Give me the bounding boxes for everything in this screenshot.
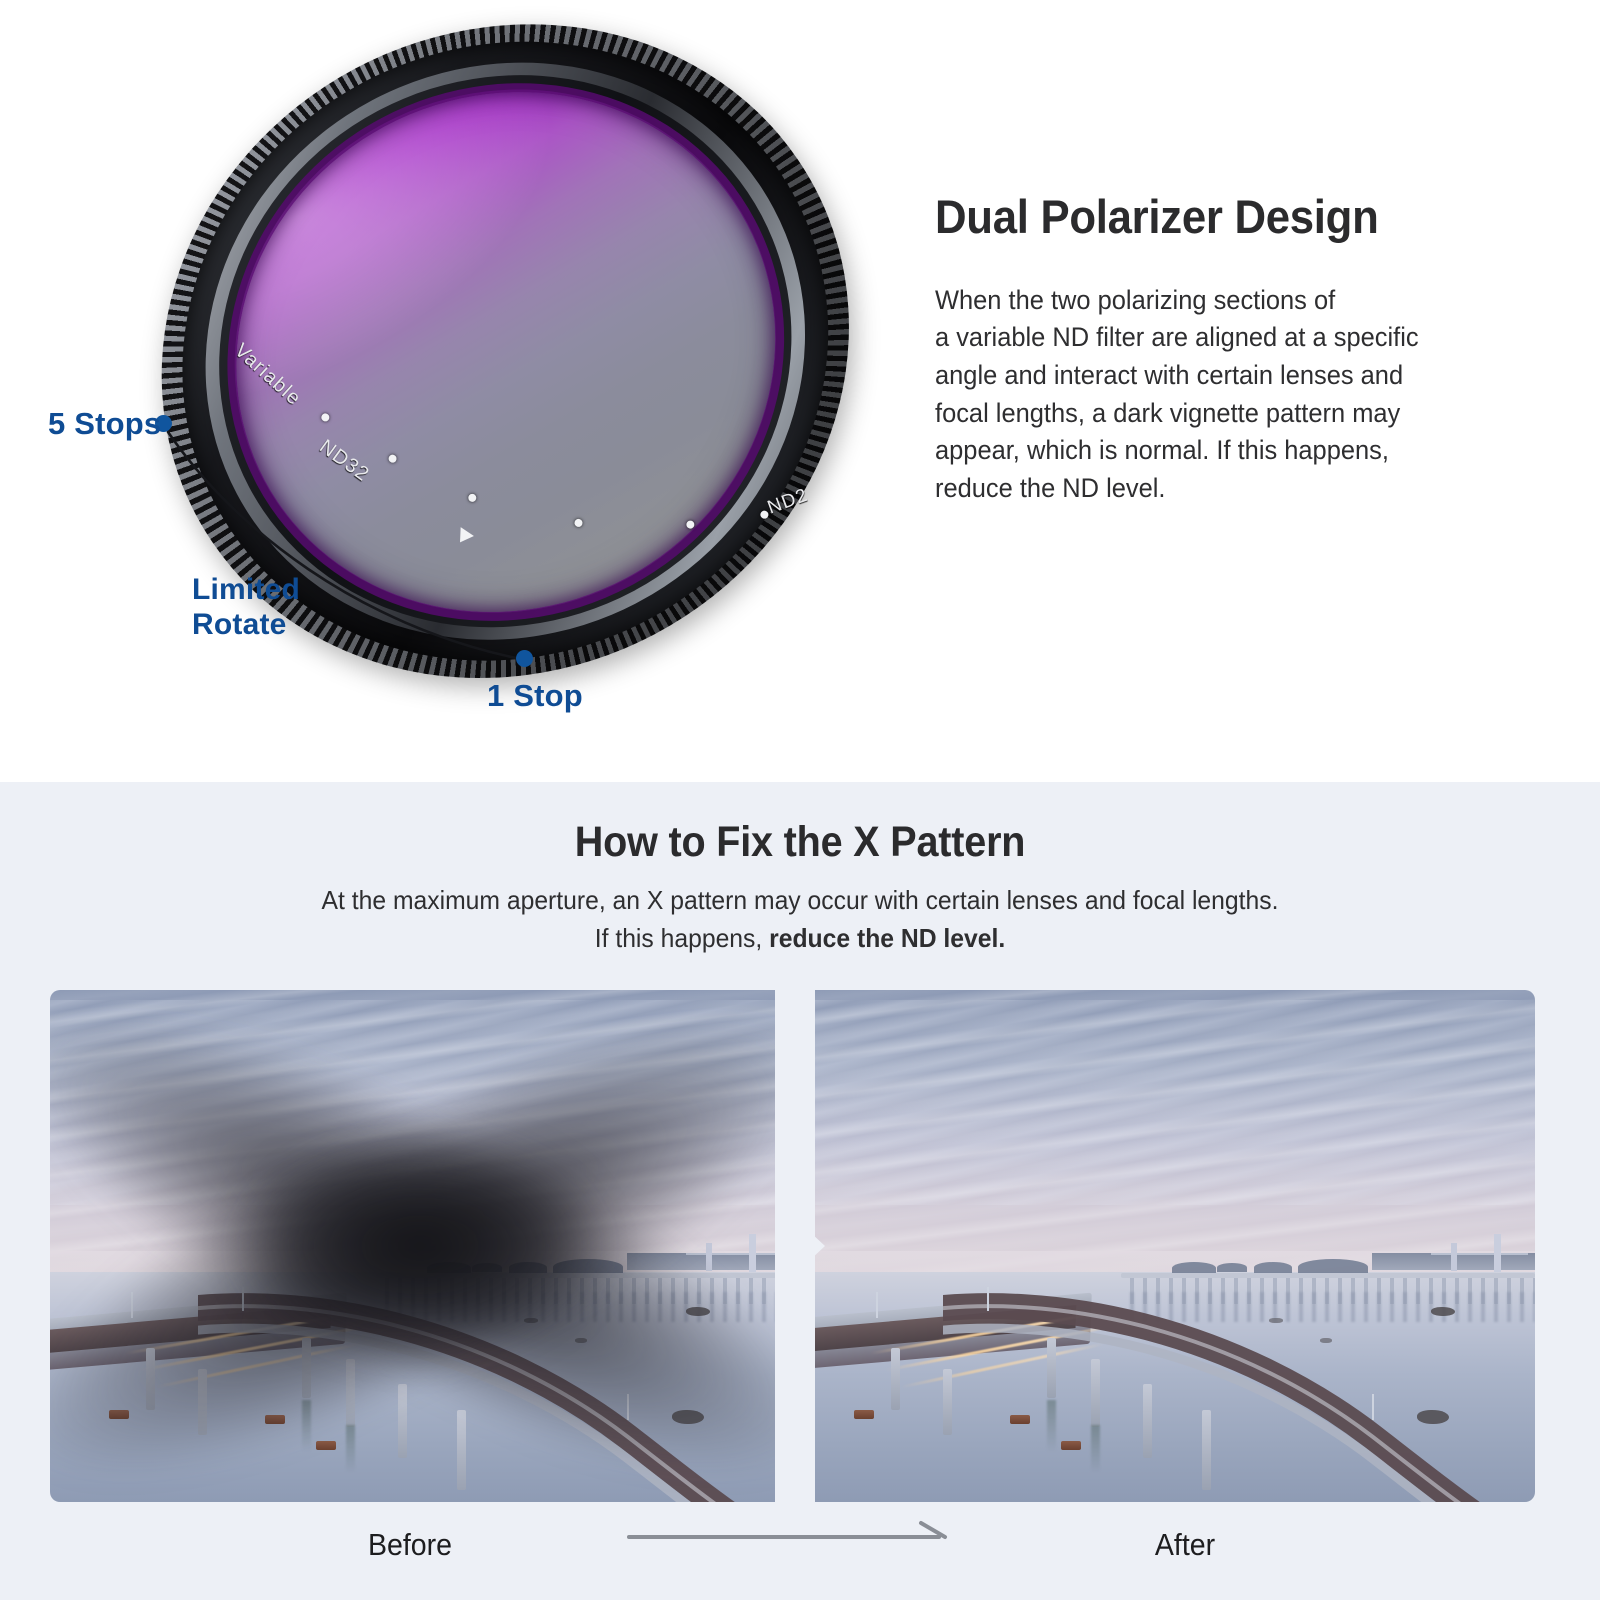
bridge-scene: [795, 990, 1535, 1502]
pier: [943, 1369, 952, 1435]
bridge-tower: [1494, 1234, 1501, 1272]
chevron-right-icon: [795, 1218, 825, 1274]
pier: [457, 1410, 466, 1490]
street-lamp: [1372, 1394, 1374, 1420]
pier: [1202, 1410, 1211, 1490]
pier-cap: [265, 1415, 285, 1424]
callout-label-1-stop: 1 Stop: [487, 678, 583, 715]
caption-after: After: [1084, 1527, 1286, 1563]
street-lamp: [627, 1394, 629, 1420]
pier: [146, 1348, 155, 1410]
caption-before: Before: [309, 1527, 511, 1563]
pier-reflection: [1047, 1400, 1056, 1452]
boat: [524, 1318, 538, 1323]
subtitle-line-2-bold: reduce the ND level.: [769, 923, 1005, 953]
rock: [1417, 1410, 1449, 1424]
body-paragraph: When the two polarizing sections of a va…: [935, 282, 1511, 508]
section-title: How to Fix the X Pattern: [64, 818, 1536, 867]
pier: [398, 1384, 407, 1458]
boat: [575, 1338, 587, 1343]
pier-cap: [1061, 1441, 1081, 1450]
copy-column: Dual Polarizer Design When the two polar…: [935, 192, 1535, 508]
infographic-page: Variable ND32 ND2 5 Stops Limited Rotate…: [0, 0, 1600, 1600]
boat: [1269, 1318, 1283, 1323]
island: [1217, 1263, 1247, 1272]
callout-label-5-stops: 5 Stops: [48, 406, 161, 443]
dual-polarizer-section: Variable ND32 ND2 5 Stops Limited Rotate…: [0, 0, 1600, 782]
cloud-streaks-secondary: [795, 1000, 1535, 1205]
pier-cap: [1010, 1415, 1030, 1424]
pier: [1143, 1384, 1152, 1458]
bridge-tower: [706, 1243, 712, 1271]
section-subtitle: At the maximum aperture, an X pattern ma…: [40, 882, 1560, 957]
pier-reflection: [302, 1400, 311, 1452]
bridge-scene: [50, 990, 790, 1502]
pier-reflection: [1091, 1425, 1100, 1473]
street-lamp: [987, 1287, 989, 1311]
pier: [1091, 1359, 1100, 1427]
bridge-tower: [1451, 1243, 1457, 1271]
subtitle-line-1: At the maximum aperture, an X pattern ma…: [322, 885, 1279, 915]
cloud-streaks-secondary: [50, 1000, 790, 1205]
pier-reflection: [346, 1425, 355, 1473]
pier: [891, 1348, 900, 1410]
callout-label-limited-rotate: Limited Rotate: [192, 572, 300, 643]
fix-x-pattern-section: How to Fix the X Pattern At the maximum …: [0, 782, 1600, 1600]
callout-leader-line: [0, 0, 900, 782]
pier: [302, 1338, 311, 1398]
photo-after: [795, 990, 1535, 1502]
pier: [346, 1359, 355, 1427]
suspension-cable: [686, 1253, 782, 1255]
pier: [198, 1369, 207, 1435]
before-after-arrow-icon: [625, 1517, 955, 1551]
island: [1254, 1262, 1292, 1273]
pier-cap: [316, 1441, 336, 1450]
island: [509, 1262, 547, 1273]
suspension-cable: [1431, 1253, 1527, 1255]
callout-dot-1-stop: [516, 650, 533, 667]
pier: [1047, 1338, 1056, 1398]
street-lamp: [876, 1292, 878, 1318]
street-lamp: [131, 1292, 133, 1318]
street-lamp: [242, 1287, 244, 1311]
rock: [672, 1410, 704, 1424]
pier-cap: [854, 1410, 874, 1419]
photo-before: [50, 990, 790, 1502]
page-title: Dual Polarizer Design: [935, 192, 1493, 242]
island: [472, 1263, 502, 1272]
bridge-tower: [749, 1234, 756, 1272]
boat: [1320, 1338, 1332, 1343]
subtitle-line-2-normal: If this happens,: [595, 923, 769, 953]
pier-cap: [109, 1410, 129, 1419]
